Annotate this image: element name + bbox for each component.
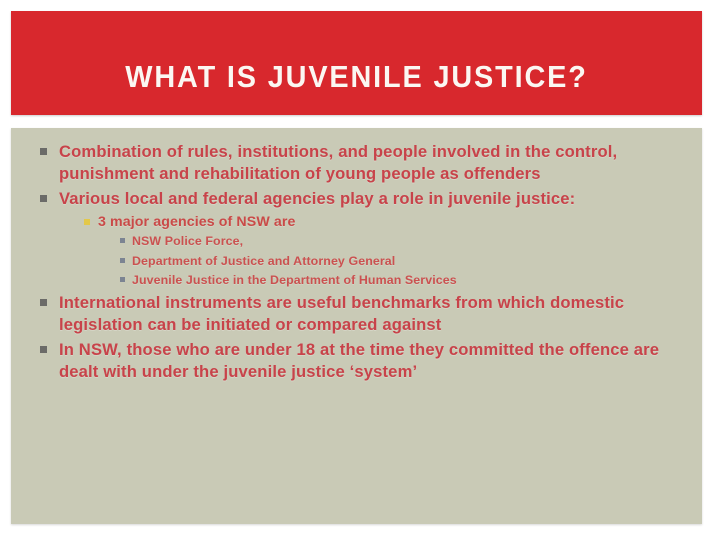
square-bullet-gray-icon	[40, 299, 47, 306]
bullet-item: International instruments are useful ben…	[40, 292, 685, 335]
square-bullet-gray-icon	[40, 195, 47, 202]
slide-title: WHAT IS JUVENILE JUSTICE?	[35, 61, 678, 92]
square-bullet-gold-icon	[84, 219, 90, 225]
bullet-item: Department of Justice and Attorney Gener…	[120, 253, 685, 269]
bullet-text: 3 major agencies of NSW are	[98, 214, 295, 230]
bullet-list-container: Combination of rules, institutions, and …	[40, 141, 685, 387]
bullet-list-level3: NSW Police Force, Department of Justice …	[98, 233, 685, 288]
bullet-item: In NSW, those who are under 18 at the ti…	[40, 339, 685, 382]
bullet-text: Various local and federal agencies play …	[59, 189, 575, 208]
bullet-list-level1: Combination of rules, institutions, and …	[40, 141, 685, 383]
bullet-text: NSW Police Force,	[132, 234, 243, 248]
bullet-item: NSW Police Force,	[120, 233, 685, 249]
bullet-text: Juvenile Justice in the Department of Hu…	[132, 273, 457, 287]
bullet-item: Juvenile Justice in the Department of Hu…	[120, 272, 685, 288]
bullet-item: Various local and federal agencies play …	[40, 188, 685, 288]
square-bullet-gray-icon	[40, 148, 47, 155]
presentation-slide: WHAT IS JUVENILE JUSTICE? Combination of…	[0, 0, 720, 539]
bullet-text: Department of Justice and Attorney Gener…	[132, 254, 395, 268]
square-bullet-slate-icon	[120, 277, 125, 282]
square-bullet-slate-icon	[120, 258, 125, 263]
bullet-item: 3 major agencies of NSW are NSW Police F…	[84, 213, 685, 289]
square-bullet-slate-icon	[120, 238, 125, 243]
bullet-text: International instruments are useful ben…	[59, 293, 624, 334]
bullet-text: Combination of rules, institutions, and …	[59, 142, 617, 183]
slide-content-panel: Combination of rules, institutions, and …	[11, 128, 702, 524]
square-bullet-gray-icon	[40, 346, 47, 353]
slide-title-banner: WHAT IS JUVENILE JUSTICE?	[11, 11, 702, 115]
bullet-text: In NSW, those who are under 18 at the ti…	[59, 340, 659, 381]
bullet-item: Combination of rules, institutions, and …	[40, 141, 685, 184]
bullet-list-level2: 3 major agencies of NSW are NSW Police F…	[59, 213, 685, 289]
